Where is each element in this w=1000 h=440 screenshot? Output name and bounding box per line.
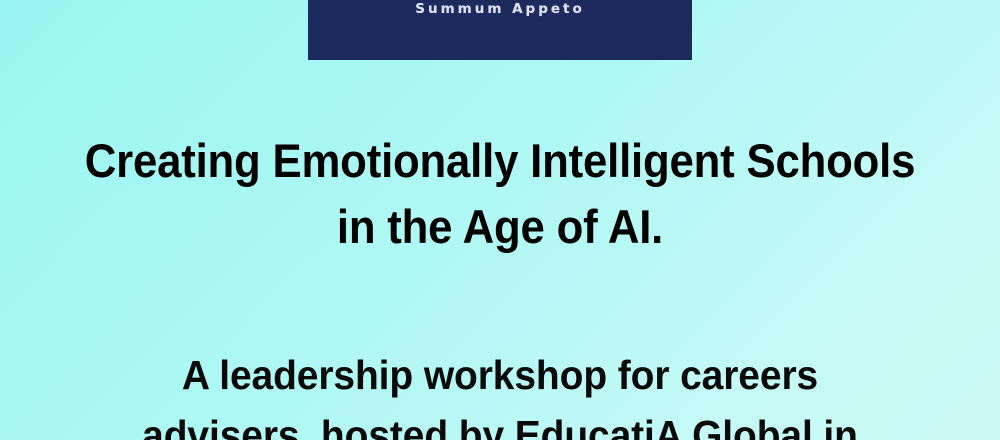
logo-banner: Summum Appeto [308,0,692,60]
subheadline-line-2: advisers, hosted by EducatiA Global in [25,405,975,440]
headline-line-1: Creating Emotionally Intelligent Schools [35,128,965,194]
subheadline-line-1: A leadership workshop for careers [25,345,975,405]
presentation-slide: Summum Appeto Creating Emotionally Intel… [0,0,1000,440]
headline-line-2: in the Age of AI. [35,194,965,260]
slide-subheadline: A leadership workshop for careers advise… [25,345,975,440]
slide-headline: Creating Emotionally Intelligent Schools… [35,128,965,260]
brand-wordmark: Summum Appeto [308,1,692,17]
